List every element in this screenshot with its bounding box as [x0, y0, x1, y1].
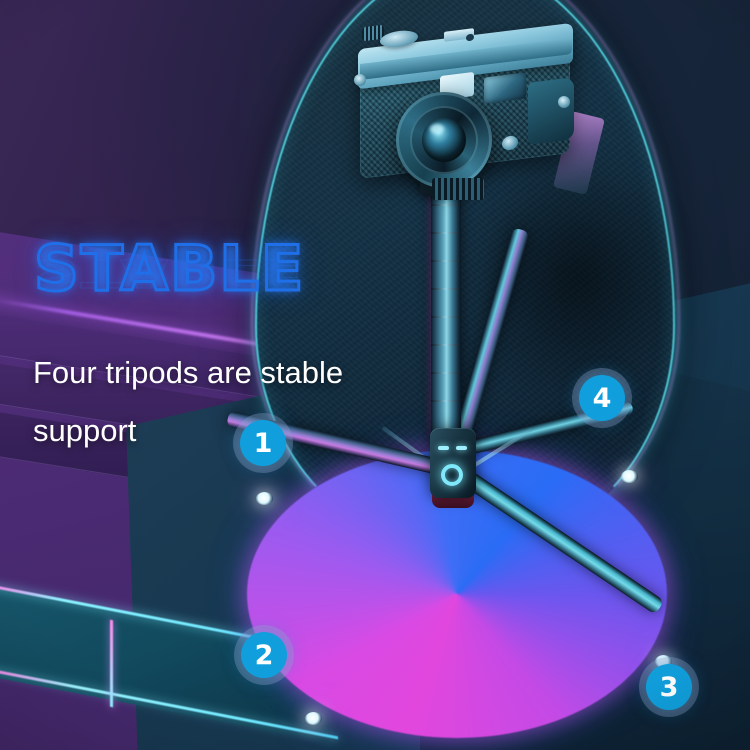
- product-feature-image: STABLE STABLE Four tripods are stable su…: [0, 0, 750, 750]
- callout-badge-4: 4: [579, 375, 625, 421]
- headline-line-1: Four tripods are stable: [33, 344, 433, 402]
- tripod-leg-3: [448, 461, 665, 615]
- leg-tip-glow-4: [621, 470, 638, 483]
- camera-lens-highlight: [430, 124, 444, 134]
- camera: [336, 18, 588, 200]
- callout-badge-2: 2: [241, 632, 287, 678]
- camera-mount-plate: [432, 178, 484, 200]
- camera-viewfinder: [484, 72, 526, 103]
- camera-strap-lug-left: [354, 74, 366, 86]
- camera-grip: [528, 77, 574, 145]
- power-button-ring-icon[interactable]: [441, 464, 463, 486]
- leg-tip-glow-2: [305, 712, 322, 725]
- headline-line-2: support: [33, 402, 433, 460]
- indicator-led-left: [438, 446, 449, 450]
- control-unit: [430, 428, 476, 498]
- camera-lens-glass: [422, 118, 466, 162]
- callout-badge-3: 3: [646, 664, 692, 710]
- leg-tip-glow-1: [256, 492, 273, 505]
- stable-outline-word: STABLE: [34, 232, 305, 305]
- callout-badge-1: 1: [240, 420, 286, 466]
- indicator-led-right: [456, 446, 467, 450]
- telescoping-pole: [431, 178, 461, 440]
- camera-strap-lug-right: [558, 96, 570, 108]
- headline-text: Four tripods are stable support: [33, 344, 433, 460]
